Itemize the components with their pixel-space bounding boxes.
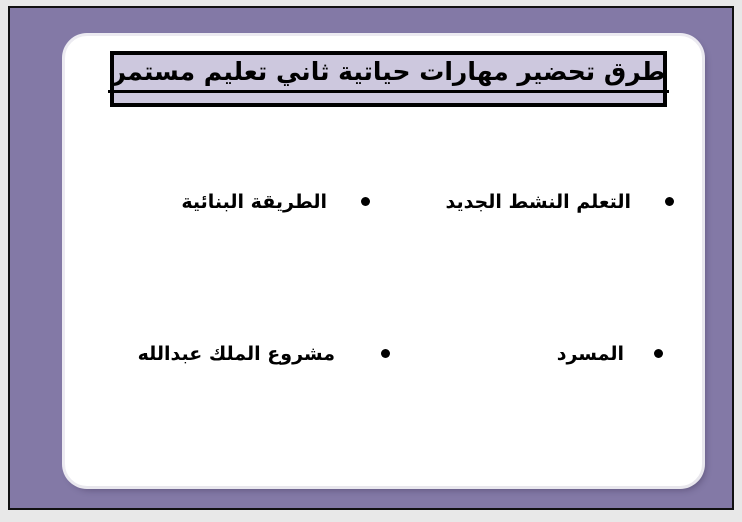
bullet-item-label: التعلم النشط الجديد [445,191,631,214]
slide-title-box: طرق تحضير مهارات حياتية ثاني تعليم مستمر [110,51,667,107]
bullet-row: المسرد مشروع الملك عبدالله [67,334,700,374]
bullet-dot-icon [361,197,370,206]
bullet-dot-icon [665,197,674,206]
bullet-dot-icon [654,349,663,358]
bullet-list: التعلم النشط الجديد الطريقة البنائية الم… [67,150,700,450]
bullet-dot-icon [381,349,390,358]
list-item[interactable]: الطريقة البنائية [100,191,400,214]
list-item[interactable]: المسرد [400,343,700,366]
list-item[interactable]: التعلم النشط الجديد [400,191,700,214]
bullet-item-label: المسرد [557,343,624,366]
slide-content-panel: طرق تحضير مهارات حياتية ثاني تعليم مستمر… [65,36,702,486]
slide-screen: طرق تحضير مهارات حياتية ثاني تعليم مستمر… [0,0,742,522]
slide-purple-frame: طرق تحضير مهارات حياتية ثاني تعليم مستمر… [8,6,734,510]
slide-title: طرق تحضير مهارات حياتية ثاني تعليم مستمر [108,59,670,92]
bullet-row: التعلم النشط الجديد الطريقة البنائية [67,182,700,222]
bullet-item-label: مشروع الملك عبدالله [138,343,335,366]
list-item[interactable]: مشروع الملك عبدالله [100,343,400,366]
bullet-item-label: الطريقة البنائية [181,191,327,214]
